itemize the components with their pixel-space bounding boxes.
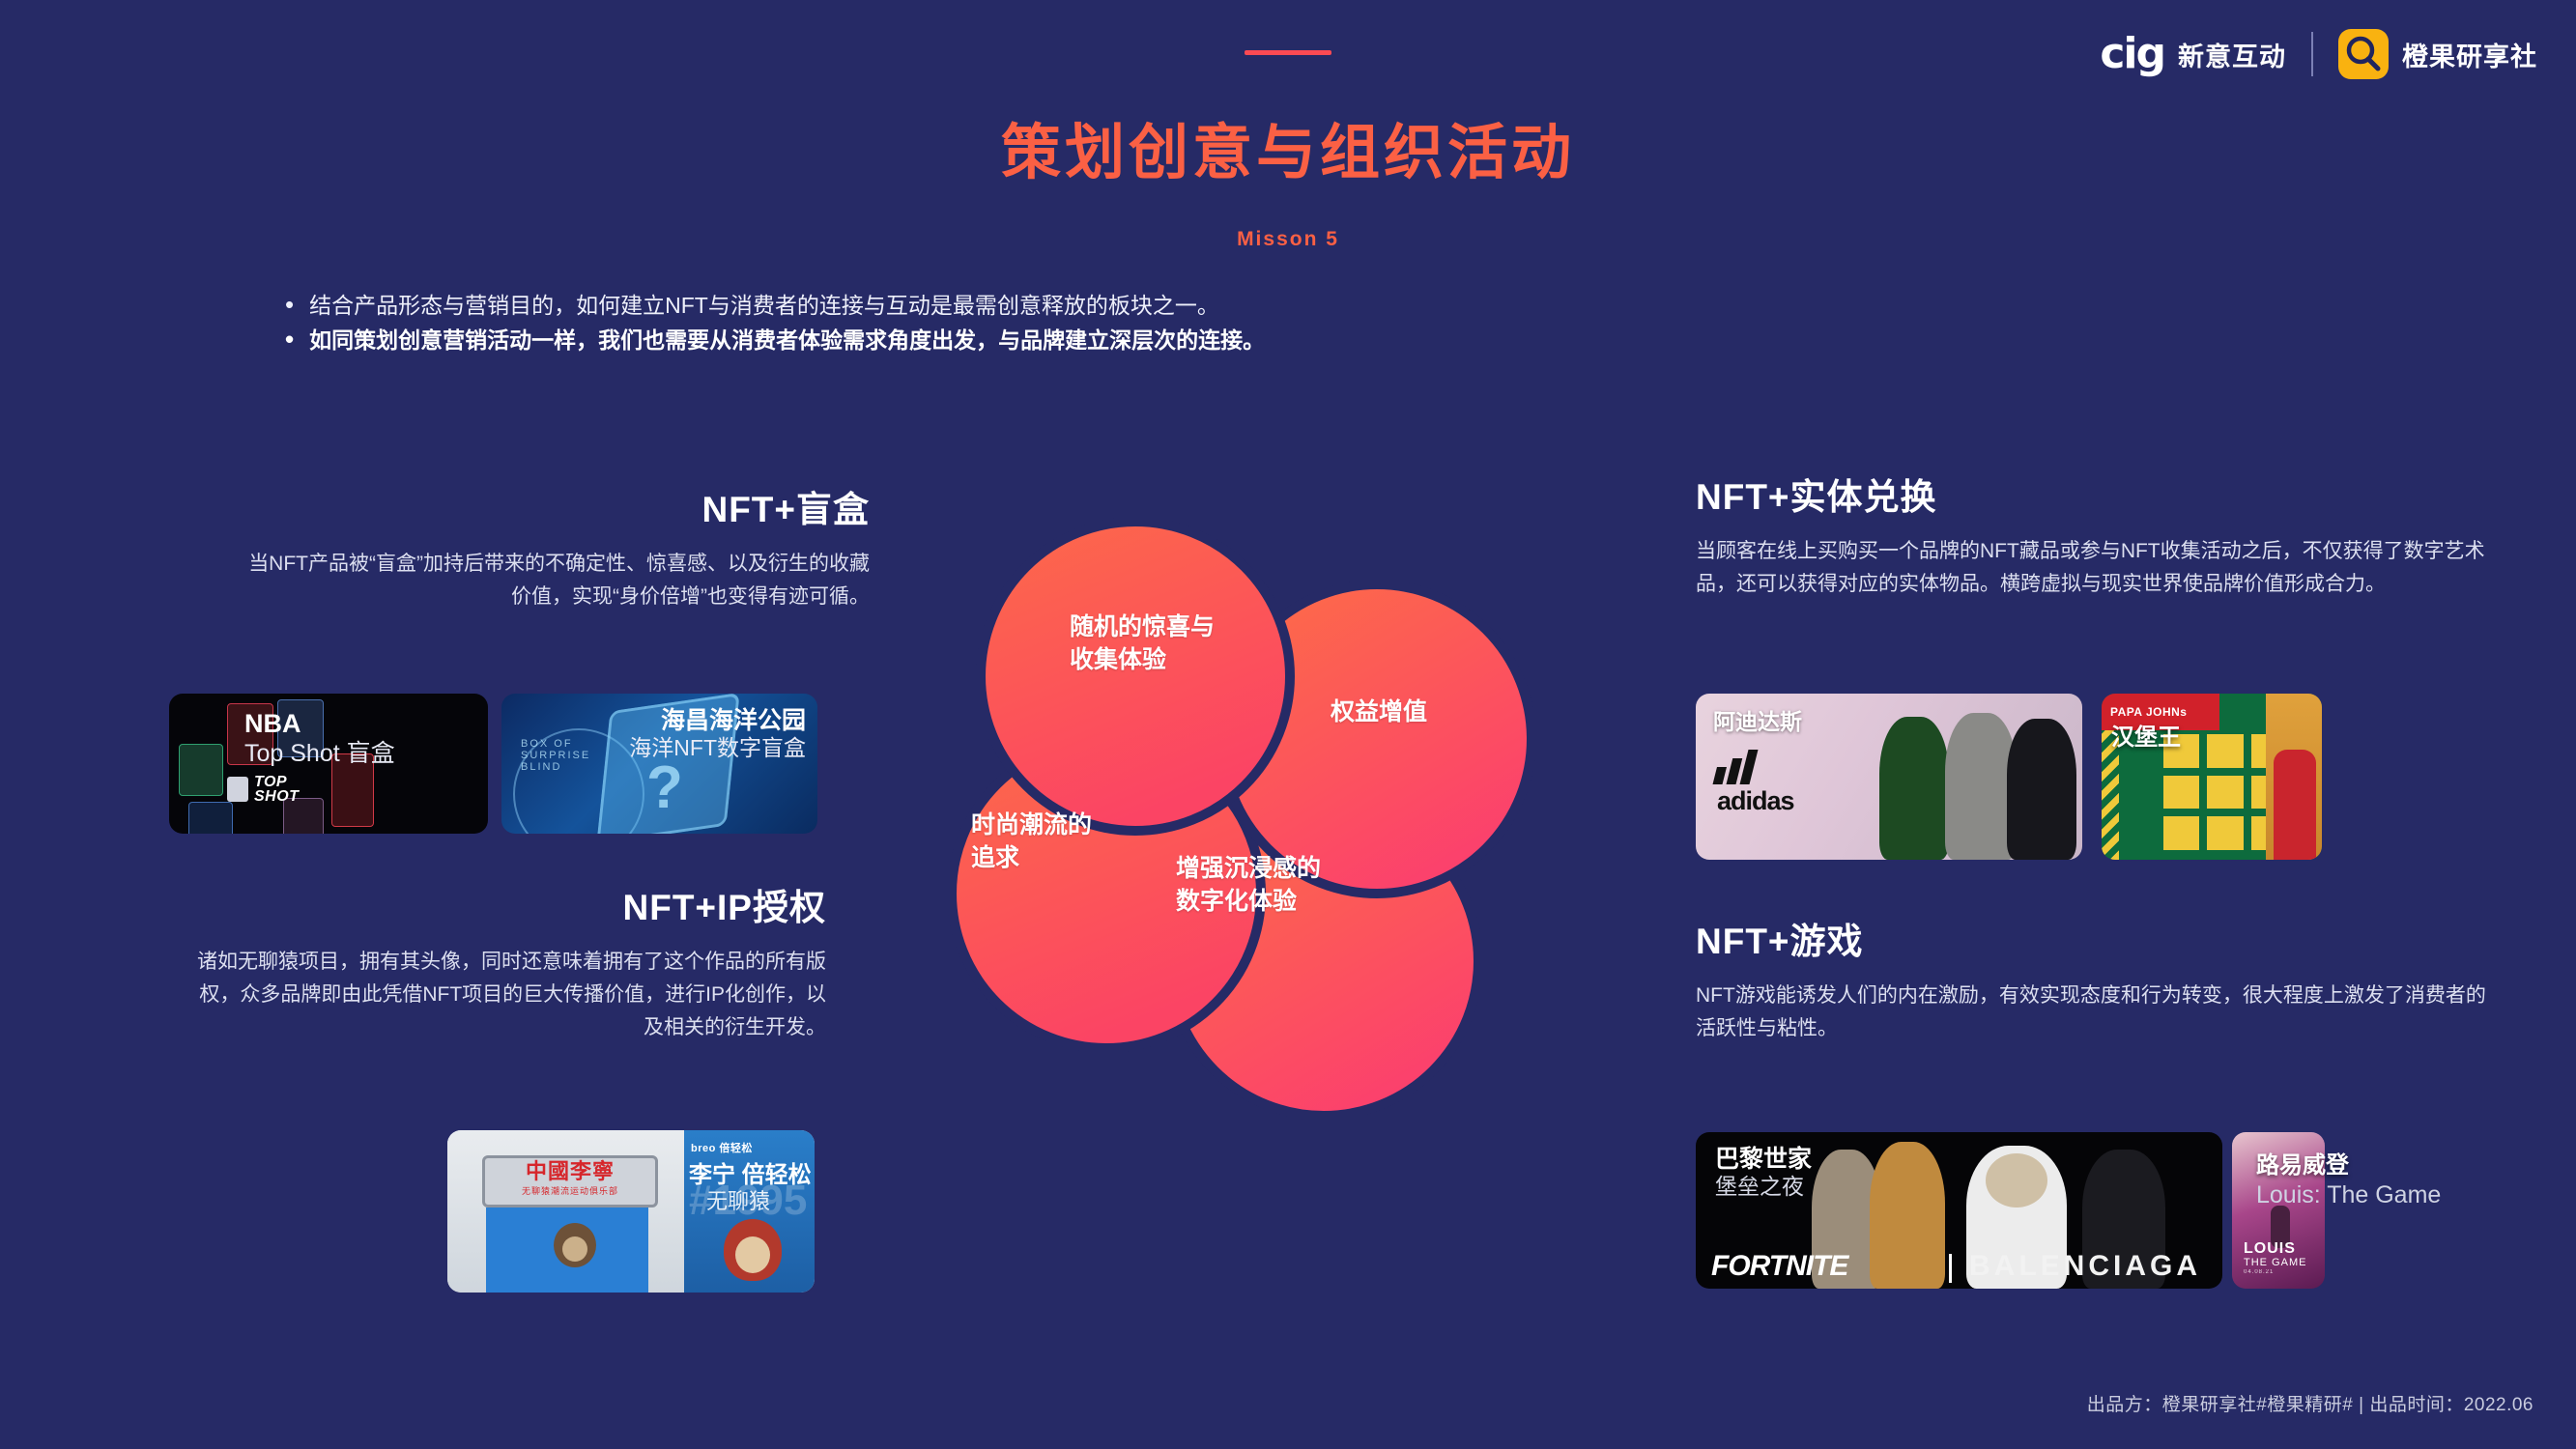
brand-bar: cig 新意互动 橙果研享社: [2100, 27, 2537, 81]
bk-nft-cell: [2205, 732, 2245, 770]
nba-logo-icon: [227, 777, 248, 802]
adidas-logo: adidas: [1717, 750, 1794, 816]
adidas-figure: [1945, 713, 2017, 860]
topshot-logo: TOP SHOT: [254, 775, 299, 804]
bk-person-photo: [2266, 694, 2322, 860]
card-lining-bayc[interactable]: 中國李寧 无聊猿潮流运动俱乐部 #1995 breo 倍轻松 李宁 倍轻松 无聊…: [447, 1130, 815, 1293]
venn-label-random-surprise: 随机的惊喜与 收集体验: [1070, 611, 1215, 676]
breo-brand-small: breo 倍轻松: [691, 1140, 753, 1155]
bullet-dot-icon: •: [285, 288, 294, 321]
venn-label-fashion-trend: 时尚潮流的 追求: [971, 809, 1092, 874]
section-heading: NFT+游戏: [1696, 923, 2498, 962]
card-caption-line1: 路易威登: [2256, 1146, 2441, 1179]
card-caption-line1: 巴黎世家: [1715, 1146, 1812, 1174]
section-nft-physical-redeem: NFT+实体兑换 当顾客在线上买购买一个品牌的NFT藏品或参与NFT收集活动之后…: [1696, 478, 2498, 601]
section-body: NFT游戏能诱发人们的内在激励，有效实现态度和行为转变，很大程度上激发了消费者的…: [1696, 980, 2498, 1045]
section-heading: NFT+实体兑换: [1696, 478, 2498, 518]
nba-tile: [179, 744, 223, 796]
bk-nft-cell: [2205, 814, 2245, 852]
cig-chinese-name: 新意互动: [2178, 36, 2286, 73]
card-caption: 阿迪达斯: [1713, 709, 1802, 734]
magnifier-icon: [2338, 29, 2389, 79]
bayc-monkey-icon: [554, 1223, 596, 1267]
bullet-list: • 结合产品形态与营销目的，如何建立NFT与消费者的连接与互动是最需创意释放的板…: [285, 288, 1715, 357]
orange-chinese-name: 橙果研享社: [2402, 36, 2537, 73]
bk-nft-cell: [2161, 814, 2201, 852]
card-caption-line1: 海昌海洋公园: [629, 707, 806, 735]
bullet-item: • 如同策划创意营销活动一样，我们也需要从消费者体验需求角度出发，与品牌建立深层…: [285, 323, 1715, 357]
fortnite-character-head: [1986, 1153, 2047, 1207]
card-caption: 海昌海洋公园 海洋NFT数字盲盒: [629, 707, 806, 761]
card-caption: 汉堡王: [2111, 724, 2181, 752]
card-caption-line2: 海洋NFT数字盲盒: [629, 735, 806, 762]
page-subtitle: Misson 5: [0, 228, 2576, 251]
venn-label-immersive-digital: 增强沉浸感的 数字化体验: [1176, 852, 1321, 918]
lining-sign-sub: 无聊猿潮流运动俱乐部: [485, 1185, 655, 1197]
card-caption: NBA Top Shot 盲盒: [244, 709, 395, 768]
adidas-figure: [2007, 719, 2076, 860]
footer-credit: 出品方：橙果研享社#橙果精研# | 出品时间：2022.06: [2087, 1390, 2533, 1416]
card-caption-line2: 堡垒之夜: [1715, 1174, 1812, 1201]
orange-logo: 橙果研享社: [2338, 29, 2537, 79]
bullet-text: 如同策划创意营销活动一样，我们也需要从消费者体验需求角度出发，与品牌建立深层次的…: [309, 323, 1265, 357]
section-nft-game: NFT+游戏 NFT游戏能诱发人们的内在激励，有效实现态度和行为转变，很大程度上…: [1696, 923, 2498, 1045]
section-nft-blindbox: NFT+盲盒 当NFT产品被“盲盒”加持后带来的不确定性、惊喜感、以及衍生的收藏…: [232, 491, 870, 613]
fortnite-wordmark: FORTNITE: [1711, 1250, 1847, 1283]
title-rule: [1245, 50, 1331, 55]
bullet-dot-icon: •: [285, 323, 294, 355]
fortnite-divider: [1949, 1254, 1952, 1283]
balenciaga-wordmark: BALENCIAGA: [1969, 1250, 2201, 1283]
card-caption-line2: Louis: The Game: [2256, 1181, 2441, 1209]
slide-root: cig 新意互动 橙果研享社 策划创意与组织活动 Misson 5 • 结合产品…: [0, 0, 2576, 1449]
section-nft-ip-license: NFT+IP授权 诸如无聊猿项目，拥有其头像，同时还意味着拥有了这个作品的所有版…: [188, 889, 826, 1044]
page-title: 策划创意与组织活动: [0, 124, 2576, 184]
bullet-text: 结合产品形态与营销目的，如何建立NFT与消费者的连接与互动是最需创意释放的板块之…: [309, 288, 1219, 323]
card-haichang-ocean-park[interactable]: BOX OF SURPRISE BLIND ? 海昌海洋公园 海洋NFT数字盲盒: [501, 694, 817, 834]
bullet-item: • 结合产品形态与营销目的，如何建立NFT与消费者的连接与互动是最需创意释放的板…: [285, 288, 1715, 323]
section-heading: NFT+盲盒: [232, 491, 870, 530]
fortnite-figure: [1870, 1142, 1945, 1289]
bk-nft-cell: [2161, 774, 2201, 811]
bayc-ape-icon: [724, 1219, 782, 1281]
louis-logo: LOUIS THE GAME 04.08.21: [2244, 1241, 2306, 1275]
section-body: 当顾客在线上买购买一个品牌的NFT藏品或参与NFT收集活动之后，不仅获得了数字艺…: [1696, 535, 2498, 601]
adidas-figure: [1879, 717, 1949, 860]
card-caption-line1: 汉堡王: [2111, 724, 2181, 752]
section-heading: NFT+IP授权: [188, 889, 826, 928]
card-caption-line2: Top Shot 盲盒: [244, 739, 395, 768]
brand-divider: [2311, 32, 2313, 76]
bk-nft-cell: [2205, 774, 2245, 811]
card-caption-line1: 阿迪达斯: [1713, 709, 1802, 734]
lining-signboard: 中國李寧 无聊猿潮流运动俱乐部: [482, 1155, 658, 1207]
lining-store-photo: 中國李寧 无聊猿潮流运动俱乐部: [447, 1130, 684, 1293]
venn-label-rights-appreciation: 权益增值: [1331, 696, 1427, 728]
card-nba-topshot[interactable]: TOP SHOT NBA Top Shot 盲盒: [169, 694, 488, 834]
card-fortnite-balenciaga[interactable]: FORTNITE BALENCIAGA 巴黎世家 堡垒之夜: [1696, 1132, 2222, 1289]
card-caption-line1: NBA: [244, 709, 395, 739]
nba-tile: [188, 802, 233, 834]
adidas-wordmark: adidas: [1717, 786, 1794, 816]
haichang-question-mark: ?: [646, 753, 683, 822]
cig-wordmark: cig: [2100, 33, 2164, 75]
adidas-bars-icon: [1713, 750, 1799, 784]
louis-logo-line2: THE GAME: [2244, 1258, 2306, 1269]
cig-logo: cig 新意互动: [2100, 33, 2286, 75]
section-body: 诸如无聊猿项目，拥有其头像，同时还意味着拥有了这个作品的所有版权，众多品牌即由此…: [188, 946, 826, 1044]
card-caption-louis: 路易威登 Louis: The Game: [2256, 1146, 2441, 1209]
venn-diagram: 随机的惊喜与 收集体验 权益增值 时尚潮流的 追求 增强沉浸感的 数字化体验: [942, 488, 1618, 1125]
card-burger-king[interactable]: PAPA JOHNs 汉堡王: [2102, 694, 2322, 860]
card-adidas[interactable]: adidas 阿迪达斯: [1696, 694, 2082, 860]
louis-logo-line1: LOUIS: [2244, 1241, 2306, 1258]
card-caption-line2: 无聊猿: [706, 1184, 770, 1215]
louis-logo-date: 04.08.21: [2244, 1269, 2306, 1275]
card-caption: 巴黎世家 堡垒之夜: [1715, 1146, 1812, 1200]
section-body: 当NFT产品被“盲盒”加持后带来的不确定性、惊喜感、以及衍生的收藏价值，实现“身…: [232, 548, 870, 613]
lining-sign-main: 中國李寧: [485, 1158, 655, 1185]
